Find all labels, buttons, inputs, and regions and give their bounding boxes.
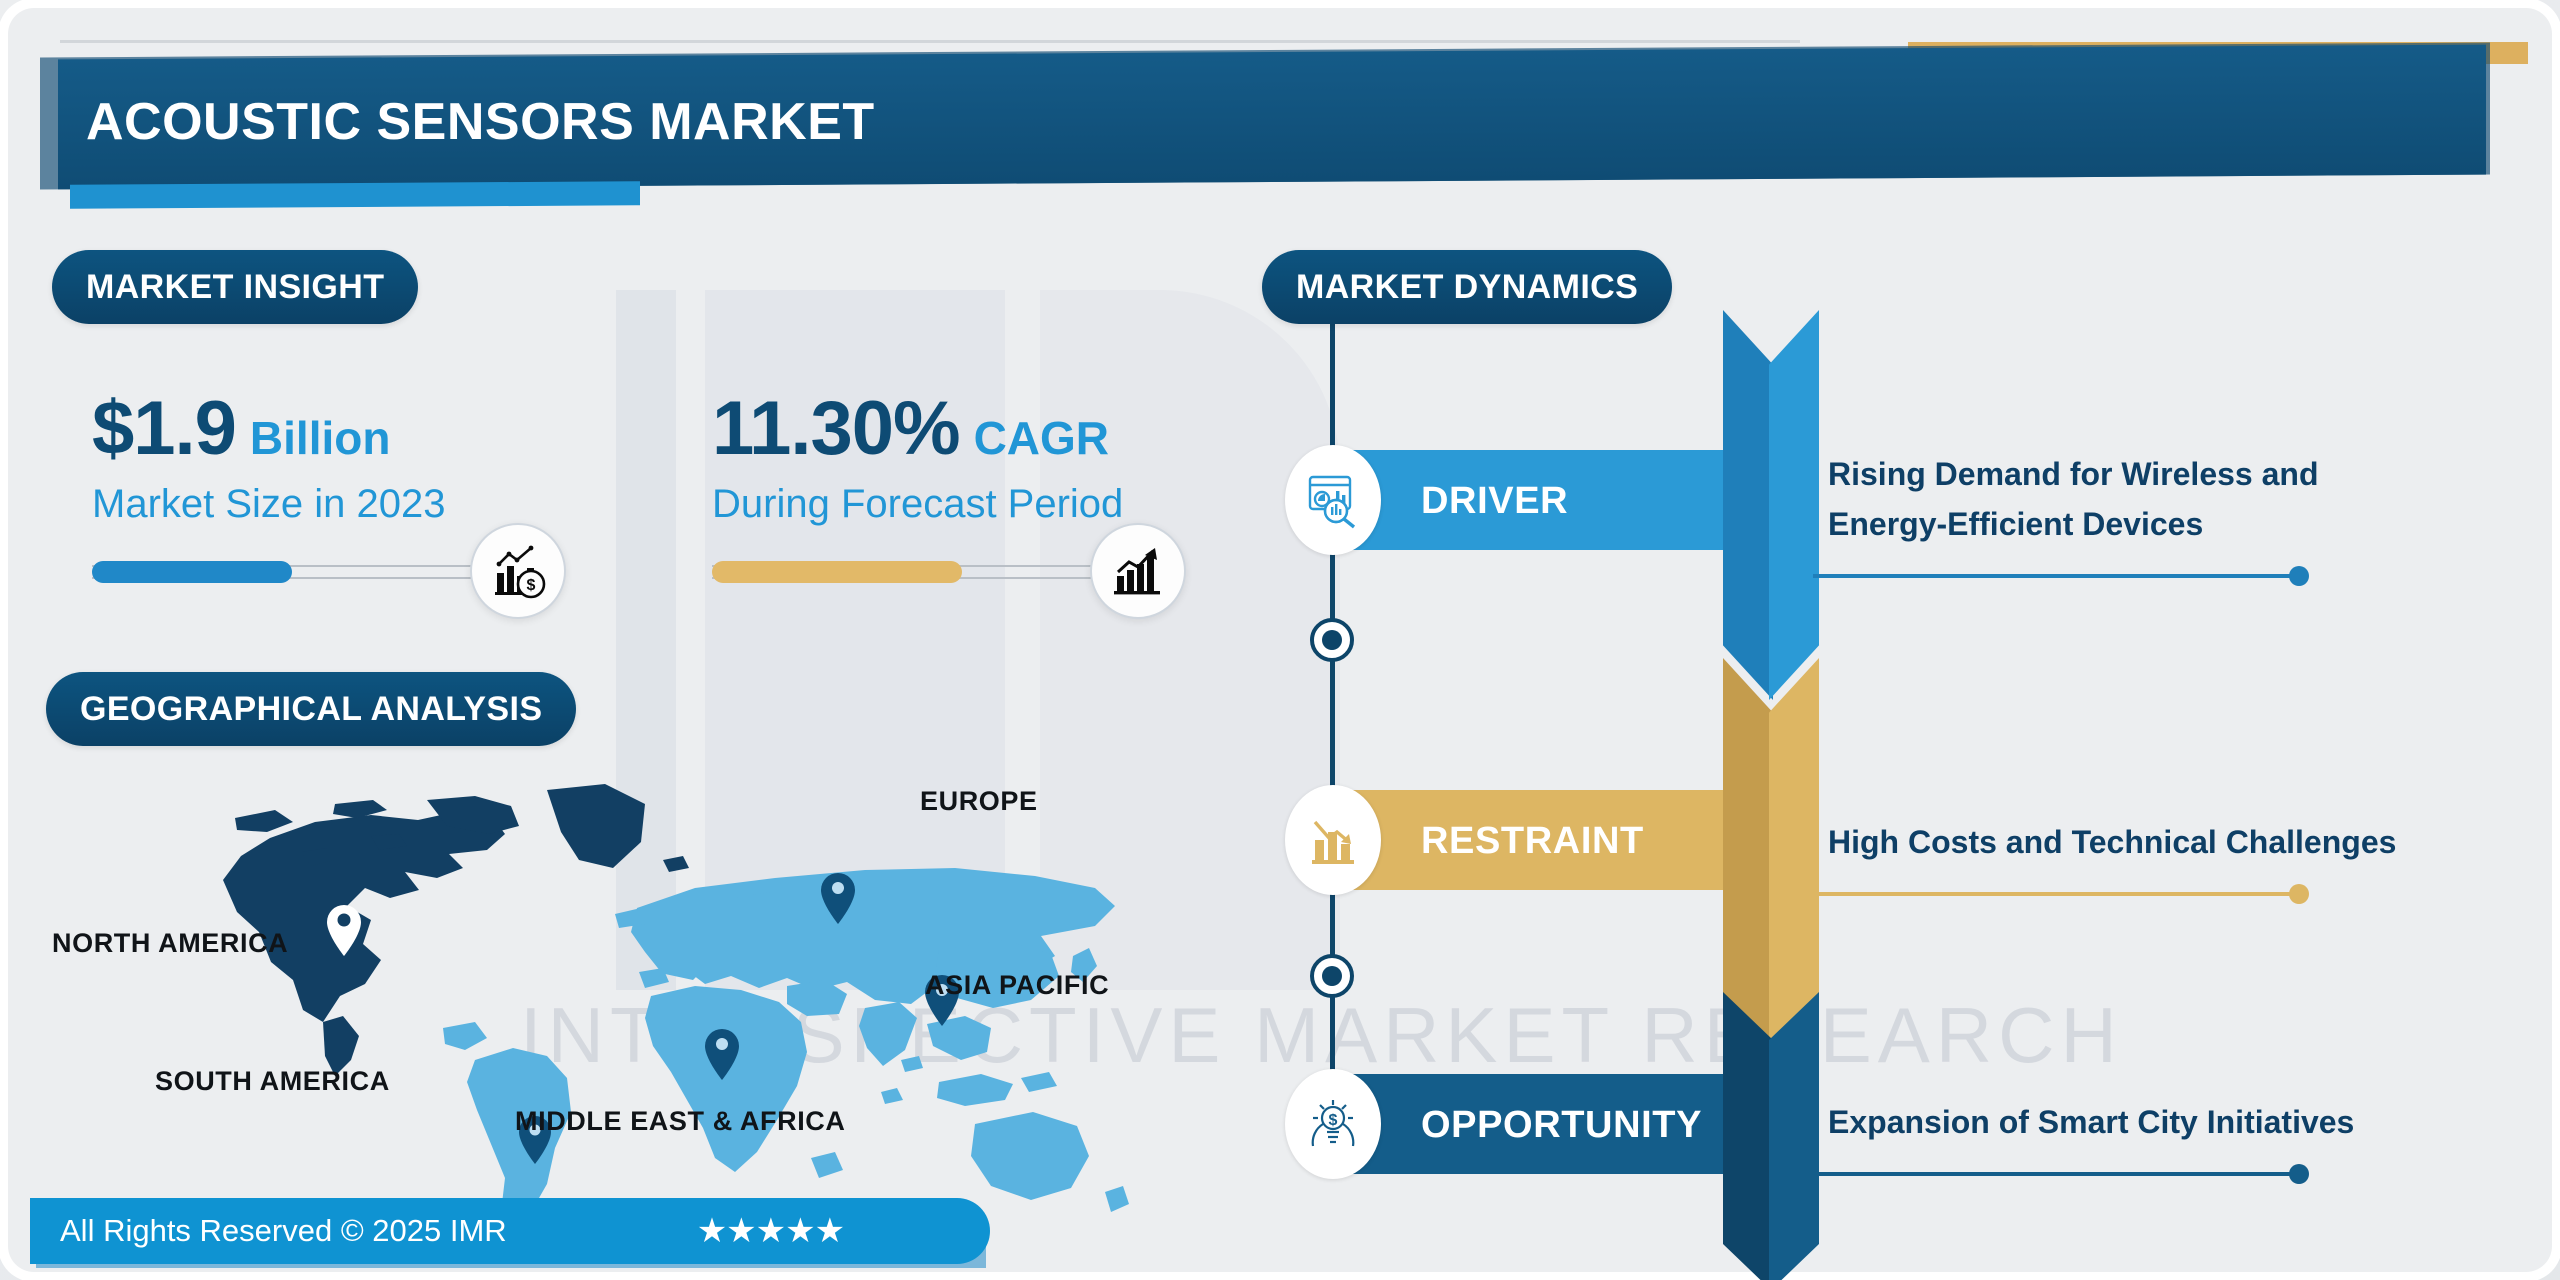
header-hairline <box>60 40 1800 43</box>
market-size-value: $1.9 <box>92 385 236 472</box>
cagr-caption: During Forecast Period <box>712 482 1272 527</box>
driver-text-line2: Energy-Efficient Devices <box>1828 502 2203 547</box>
map-label-north-america: NORTH AMERICA <box>52 928 288 959</box>
market-size-progress: $ <box>92 561 492 583</box>
header-blue-accent <box>70 181 640 208</box>
restraint-chevron <box>1723 658 1819 1048</box>
opportunity-underline <box>1813 1172 2300 1176</box>
market-insight-badge: MARKET INSIGHT <box>52 250 418 324</box>
opportunity-chevron <box>1723 992 1819 1280</box>
progress-fill <box>92 561 292 583</box>
geographical-analysis-badge: GEOGRAPHICAL ANALYSIS <box>46 672 576 746</box>
map-label-middle-east-africa: MIDDLE EAST & AFRICA <box>515 1106 846 1137</box>
lightbulb-dollar-icon: $ <box>1285 1069 1381 1179</box>
market-dynamics-badge: MARKET DYNAMICS <box>1262 250 1672 324</box>
infographic-canvas: INTROSPECTIVE MARKET RESEARCH ACOUSTIC S… <box>0 0 2560 1280</box>
progress-fill <box>712 561 962 583</box>
svg-text:$: $ <box>527 577 536 594</box>
rating-stars: ★★★★★ <box>697 1211 844 1251</box>
spine-node-1 <box>1310 618 1354 662</box>
driver-text-line1: Rising Demand for Wireless and <box>1828 452 2318 497</box>
map-label-south-america: SOUTH AMERICA <box>155 1066 390 1097</box>
driver-chevron <box>1723 310 1819 700</box>
dynamics-row-opportunity: $ OPPORTUNITY Expansion of Smart City In… <box>1283 1016 2533 1280</box>
market-size-caption: Market Size in 2023 <box>92 482 652 527</box>
driver-underline <box>1813 574 2300 578</box>
bar-chart-dollar-icon: $ <box>470 523 566 619</box>
map-label-europe: EUROPE <box>920 786 1038 817</box>
dynamics-row-driver: DRIVER Rising Demand for Wireless and En… <box>1283 340 2533 660</box>
cagr-progress <box>712 561 1112 583</box>
restraint-underline <box>1813 892 2300 896</box>
opportunity-label: OPPORTUNITY <box>1421 1104 1702 1147</box>
dynamics-row-restraint: RESTRAINT High Costs and Technical Chall… <box>1283 680 2533 1000</box>
opportunity-text-line1: Expansion of Smart City Initiatives <box>1828 1100 2354 1145</box>
growth-arrow-chart-icon <box>1090 523 1186 619</box>
driver-label: DRIVER <box>1421 480 1568 523</box>
cagr-unit: CAGR <box>974 411 1109 465</box>
footer-bar: All Rights Reserved © 2025 IMR ★★★★★ <box>30 1198 990 1264</box>
spine-node-2 <box>1310 954 1354 998</box>
declining-chart-icon <box>1285 785 1381 895</box>
copyright-text: All Rights Reserved © 2025 IMR <box>60 1213 507 1249</box>
restraint-text-line1: High Costs and Technical Challenges <box>1828 820 2396 865</box>
map-label-asia-pacific: ASIA PACIFIC <box>925 970 1109 1001</box>
restraint-label: RESTRAINT <box>1421 820 1644 863</box>
header-bar: ACOUSTIC SENSORS MARKET <box>58 45 2486 190</box>
stat-market-size: $1.9 Billion Market Size in 2023 <box>92 385 652 583</box>
stat-cagr: 11.30% CAGR During Forecast Period <box>712 385 1272 583</box>
page-title: ACOUSTIC SENSORS MARKET <box>86 92 875 152</box>
analytics-search-icon <box>1285 445 1381 555</box>
cagr-value: 11.30% <box>712 385 960 472</box>
market-size-unit: Billion <box>250 411 391 465</box>
svg-text:$: $ <box>1329 1112 1338 1129</box>
